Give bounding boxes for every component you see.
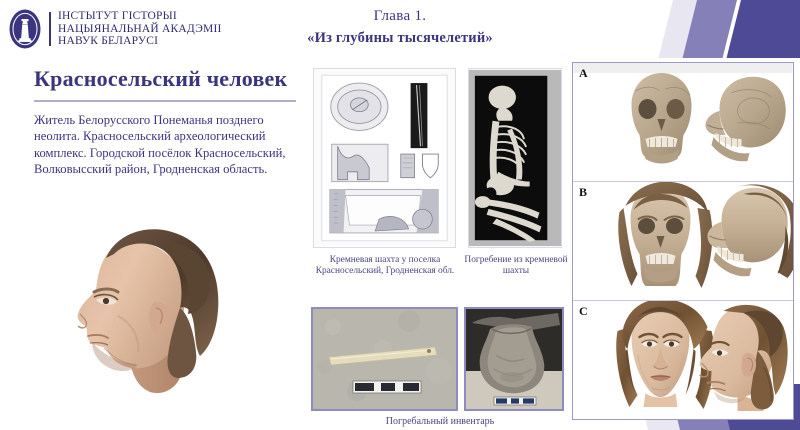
top-right-ribbon-decoration [610, 0, 800, 58]
figure-flint-mine-plan [313, 68, 456, 248]
page-title: Красносельский человек [34, 66, 302, 92]
burial-skeleton-photo [469, 69, 561, 247]
caption-burial-skeleton: Погребение из кремневой шахты [464, 255, 568, 278]
reconstruction-row-b: B [573, 182, 793, 301]
description-text: Житель Белорусского Понеманья позднего н… [34, 112, 302, 178]
logo-divider [49, 12, 51, 46]
caption-grave-goods: Погребальный инвентарь [330, 416, 550, 427]
reconstruction-row-a: A [573, 63, 793, 182]
title-underline [34, 100, 296, 102]
caption-flint-mine-plan: Кремневая шахта у поселка Красносельский… [306, 255, 464, 278]
portrait-illustration [18, 196, 304, 430]
reconstruction-row-c: C [573, 301, 793, 419]
institute-branding: ІНСТЫТУТ ГІСТОРЫІ НАЦЫЯНАЛЬНАЙ АКАДЭМІІ … [8, 8, 222, 50]
flint-mine-plan-illustration [314, 69, 455, 247]
left-text-column: Красносельский человек Житель Белорусско… [34, 66, 302, 178]
portrait-reconstruction-image [18, 196, 304, 430]
skull-views-illustration [573, 63, 793, 181]
panel-label-b: B [579, 185, 587, 200]
panel-label-c: C [579, 304, 588, 319]
final-face-reconstruction-illustration [573, 301, 793, 419]
institute-emblem-icon [8, 8, 42, 50]
institute-name: ІНСТЫТУТ ГІСТОРЫІ НАЦЫЯНАЛЬНАЙ АКАДЭМІІ … [58, 10, 222, 48]
skull-with-tissue-illustration [573, 182, 793, 300]
figure-ceramic-vessel [464, 307, 564, 411]
figure-bone-tool [311, 307, 458, 411]
reconstruction-panel: A [572, 62, 794, 420]
ceramic-vessel-photo [466, 309, 562, 409]
bone-tool-photo [313, 309, 456, 409]
figure-burial-skeleton [468, 68, 562, 248]
panel-label-a: A [579, 66, 588, 81]
slide-canvas: ІНСТЫТУТ ГІСТОРЫІ НАЦЫЯНАЛЬНАЙ АКАДЭМІІ … [0, 0, 800, 430]
